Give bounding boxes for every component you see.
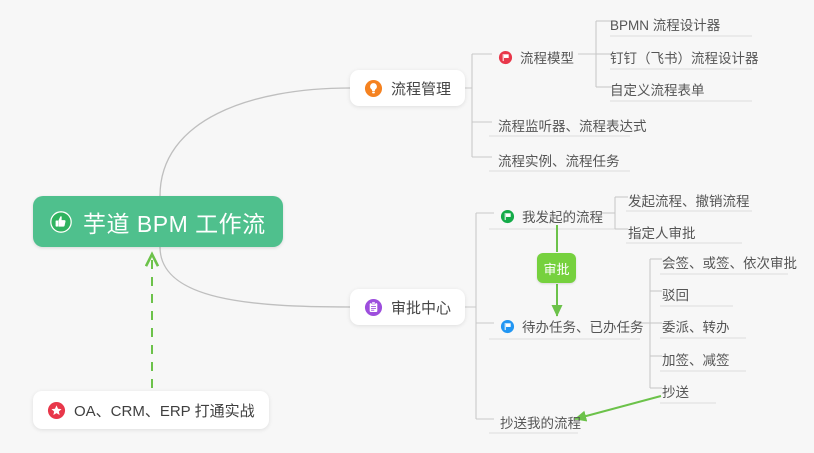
branch-approval-center-label: 审批中心 — [391, 297, 451, 318]
branch-flow-management[interactable]: 流程管理 — [350, 70, 465, 106]
star-icon — [47, 401, 66, 420]
node-countersign-or-sign-sequential[interactable]: 会签、或签、依次审批 — [654, 249, 805, 277]
node-dingtalk-feishu-designer[interactable]: 钉钉（飞书）流程设计器 — [602, 44, 767, 72]
node-custom-flow-form-label: 自定义流程表单 — [610, 79, 705, 99]
node-cc[interactable]: 抄送 — [654, 378, 697, 406]
node-start-cancel-flow[interactable]: 发起流程、撤销流程 — [620, 187, 758, 215]
mindmap-canvas: 芋道 BPM 工作流 流程管理 流程模型 BPMN 流程设计器 钉钉（飞书）流程… — [0, 0, 814, 453]
node-bpmn-designer[interactable]: BPMN 流程设计器 — [602, 11, 728, 39]
node-todo-done-tasks-label: 待办任务、已办任务 — [522, 316, 644, 336]
node-flow-listener-expression[interactable]: 流程监听器、流程表达式 — [490, 112, 655, 140]
node-dingtalk-feishu-designer-label: 钉钉（飞书）流程设计器 — [610, 47, 759, 67]
integration-note[interactable]: OA、CRM、ERP 打通实战 — [33, 391, 269, 429]
node-flow-model[interactable]: 流程模型 — [490, 44, 582, 72]
node-start-cancel-flow-label: 发起流程、撤销流程 — [628, 190, 750, 210]
branch-approval-center[interactable]: 审批中心 — [350, 289, 465, 325]
node-my-started-flows[interactable]: 我发起的流程 — [492, 203, 611, 231]
thumbs-up-icon — [49, 210, 73, 234]
branch-flow-management-label: 流程管理 — [391, 78, 451, 99]
root-node[interactable]: 芋道 BPM 工作流 — [33, 196, 283, 247]
root-node-label: 芋道 BPM 工作流 — [83, 205, 266, 239]
node-assignee-approval[interactable]: 指定人审批 — [620, 219, 704, 247]
node-flow-model-label: 流程模型 — [520, 47, 574, 67]
node-flow-listener-expression-label: 流程监听器、流程表达式 — [498, 115, 647, 135]
clipboard-icon — [364, 298, 383, 317]
node-delegate-transfer[interactable]: 委派、转办 — [654, 313, 738, 341]
integration-note-label: OA、CRM、ERP 打通实战 — [74, 400, 255, 421]
link-root-to-flow-management — [160, 88, 350, 196]
node-todo-done-tasks[interactable]: 待办任务、已办任务 — [492, 313, 652, 341]
node-reject[interactable]: 驳回 — [654, 281, 697, 309]
node-countersign-or-sign-sequential-label: 会签、或签、依次审批 — [662, 252, 797, 272]
flag-red-icon — [498, 50, 513, 65]
approve-tag[interactable]: 审批 — [537, 253, 576, 283]
node-my-started-flows-label: 我发起的流程 — [522, 206, 603, 226]
node-add-remove-sign[interactable]: 加签、减签 — [654, 346, 738, 374]
approve-tag-label: 审批 — [543, 259, 569, 278]
lightbulb-icon — [364, 79, 383, 98]
node-bpmn-designer-label: BPMN 流程设计器 — [610, 14, 720, 34]
link-root-to-approval-center — [160, 247, 350, 307]
node-delegate-transfer-label: 委派、转办 — [662, 316, 730, 336]
flag-blue-icon — [500, 319, 515, 334]
node-add-remove-sign-label: 加签、减签 — [662, 349, 730, 369]
node-cc-label: 抄送 — [662, 381, 689, 401]
node-assignee-approval-label: 指定人审批 — [628, 222, 696, 242]
node-cc-to-me-flows-label: 抄送我的流程 — [500, 412, 581, 432]
node-flow-instance-task-label: 流程实例、流程任务 — [498, 150, 620, 170]
node-reject-label: 驳回 — [662, 284, 689, 304]
flag-green-icon — [500, 209, 515, 224]
node-custom-flow-form[interactable]: 自定义流程表单 — [602, 76, 713, 104]
node-flow-instance-task[interactable]: 流程实例、流程任务 — [490, 147, 628, 175]
node-cc-to-me-flows[interactable]: 抄送我的流程 — [492, 409, 589, 437]
